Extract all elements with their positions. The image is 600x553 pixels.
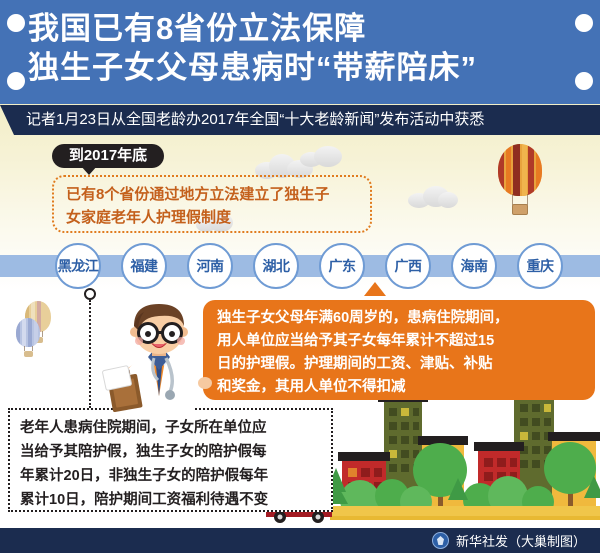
white-info-line3: 年累计20日，非独生子女的陪护假每年	[20, 464, 323, 488]
date-tag: 到2017年底	[52, 144, 164, 168]
province-circle-fujian[interactable]: 福建	[121, 243, 167, 289]
province-circle-hubei[interactable]: 湖北	[253, 243, 299, 289]
header-banner: 我国已有8省份立法保障 独生子女父母患病时“带薪陪床”	[0, 0, 600, 104]
circle-dot-icon	[575, 72, 593, 90]
marker-circle-icon	[84, 288, 96, 300]
orange-callout-line4: 和奖金，其用人单位不得扣减	[217, 376, 583, 399]
page-title-line1: 我国已有8省份立法保障	[28, 13, 366, 44]
triangle-pointer-icon	[364, 282, 386, 296]
orange-callout-line2: 用人单位应当给予其子女每年累计不超过15	[217, 330, 583, 353]
province-circle-guangdong[interactable]: 广东	[319, 243, 365, 289]
hot-air-balloon-icon	[16, 318, 44, 360]
white-info-line1: 老年人患病住院期间，子女所在单位应	[20, 416, 323, 440]
subtitle-bar: 记者1月23日从全国老龄办2017年全国“十大老龄新闻”发布活动中获悉	[14, 105, 600, 135]
province-circle-chongqing[interactable]: 重庆	[517, 243, 563, 289]
doctor-character-icon	[96, 300, 214, 412]
province-circle-guangxi[interactable]: 广西	[385, 243, 431, 289]
orange-callout-line1: 独生子女父母年满60周岁的，患病住院期间，	[217, 307, 583, 330]
hot-air-balloon-icon	[498, 144, 546, 218]
subtitle-notch	[0, 105, 14, 135]
circle-dot-icon	[575, 14, 593, 32]
infographic-canvas: 我国已有8省份立法保障 独生子女父母患病时“带薪陪床” 记者1月23日从全国老龄…	[0, 0, 600, 553]
cityscape-icon	[330, 392, 600, 528]
xinhua-logo-icon	[432, 532, 449, 549]
connector-line	[89, 300, 91, 408]
orange-callout-bubble: 独生子女父母年满60周岁的，患病住院期间， 用人单位应当给予其子女每年累计不超过…	[203, 300, 595, 400]
page-title-line2: 独生子女父母患病时“带薪陪床”	[28, 52, 477, 83]
footer-credit: 新华社发（大巢制图）	[432, 528, 586, 553]
dashed-callout-box: 已有8个省份通过地方立法建立了独生子 女家庭老年人护理假制度	[52, 175, 372, 233]
dashed-callout-line2: 女家庭老年人护理假制度	[66, 206, 360, 229]
footer-credit-text: 新华社发（大巢制图）	[456, 531, 586, 550]
orange-callout-line3: 日的护理假。护理期间的工资、津贴、补贴	[217, 353, 583, 376]
white-info-line4: 累计10日，陪护期间工资福利待遇不变	[20, 488, 323, 512]
cloud-icon	[300, 146, 344, 168]
province-circle-henan[interactable]: 河南	[187, 243, 233, 289]
province-circle-heilongjiang[interactable]: 黑龙江	[55, 243, 101, 289]
dashed-callout-line1: 已有8个省份通过地方立法建立了独生子	[66, 183, 360, 206]
province-circle-hainan[interactable]: 海南	[451, 243, 497, 289]
white-info-box: 老年人患病住院期间，子女所在单位应 当给予其陪护假，独生子女的陪护假每 年累计2…	[8, 408, 333, 512]
cloud-icon	[408, 186, 458, 208]
circle-dot-icon	[7, 14, 25, 32]
circle-dot-icon	[7, 72, 25, 90]
white-info-line2: 当给予其陪护假，独生子女的陪护假每	[20, 440, 323, 464]
